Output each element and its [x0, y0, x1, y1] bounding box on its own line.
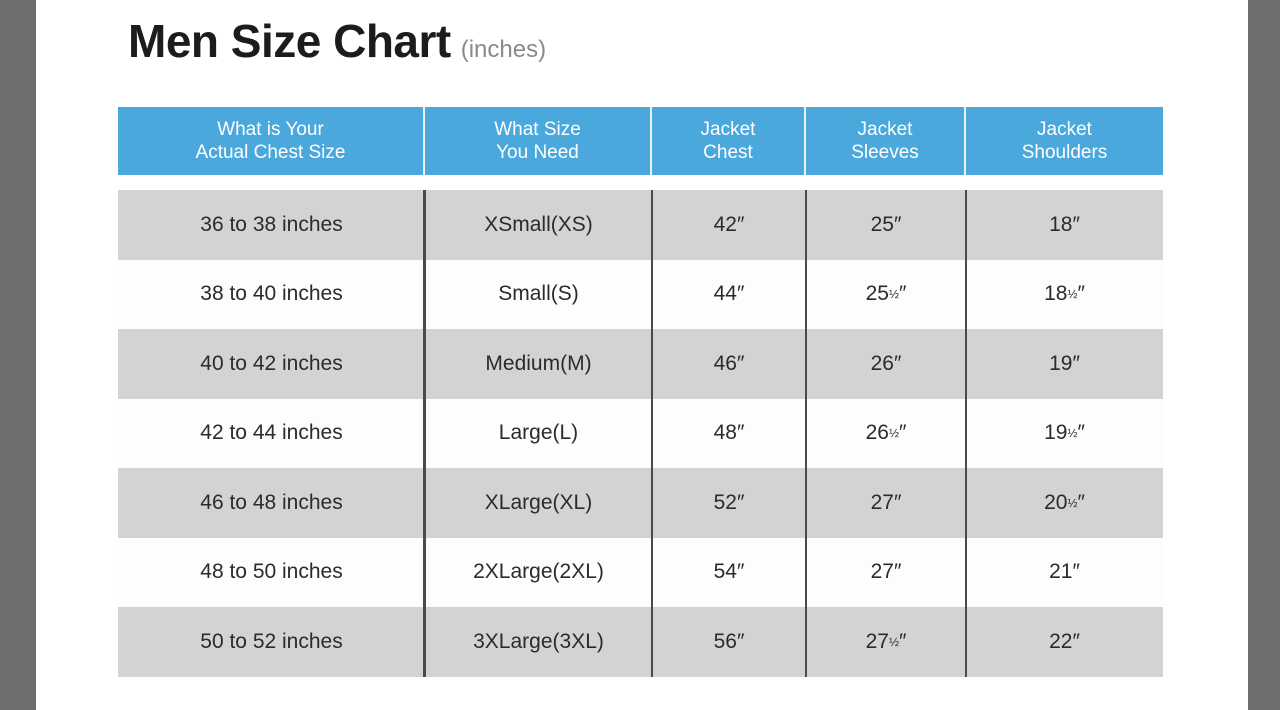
table-header-cell: JacketSleeves — [806, 107, 966, 175]
column-divider-1 — [423, 190, 426, 677]
table-cell-jacket-sleeves: 25″ — [806, 190, 966, 260]
header-line-1: Jacket — [701, 118, 756, 141]
table-cell-actual-chest-size: 38 to 40 inches — [118, 260, 425, 330]
title-text: Men Size Chart — [128, 18, 451, 64]
table-cell-size-you-need: Small(S) — [425, 260, 652, 330]
table-cell-jacket-chest: 42″ — [652, 190, 806, 260]
table-header-cell: What is YourActual Chest Size — [118, 107, 425, 175]
table-cell-jacket-sleeves: 26½″ — [806, 399, 966, 469]
letterbox-left — [0, 0, 36, 710]
table-cell-jacket-sleeves: 27″ — [806, 538, 966, 608]
column-divider-4 — [965, 190, 967, 677]
table-cell-jacket-shoulders: 18″ — [966, 190, 1163, 260]
table-cell-actual-chest-size: 36 to 38 inches — [118, 190, 425, 260]
table-row: 46 to 48 inchesXLarge(XL)52″27″20½″ — [118, 468, 1163, 538]
header-line-2: Actual Chest Size — [196, 141, 346, 164]
table-cell-actual-chest-size: 48 to 50 inches — [118, 538, 425, 608]
table-cell-size-you-need: XLarge(XL) — [425, 468, 652, 538]
table-cell-size-you-need: Medium(M) — [425, 329, 652, 399]
table-row: 40 to 42 inchesMedium(M)46″26″19″ — [118, 329, 1163, 399]
table-body: 36 to 38 inchesXSmall(XS)42″25″18″38 to … — [118, 190, 1163, 677]
table-cell-jacket-shoulders: 22″ — [966, 607, 1163, 677]
table-cell-jacket-chest: 56″ — [652, 607, 806, 677]
table-cell-size-you-need: 3XLarge(3XL) — [425, 607, 652, 677]
column-divider-3 — [805, 190, 807, 677]
letterbox-right — [1248, 0, 1280, 710]
table-cell-size-you-need: 2XLarge(2XL) — [425, 538, 652, 608]
table-cell-jacket-sleeves: 26″ — [806, 329, 966, 399]
table-header-cell: What SizeYou Need — [425, 107, 652, 175]
table-cell-size-you-need: Large(L) — [425, 399, 652, 469]
table-cell-jacket-chest: 46″ — [652, 329, 806, 399]
header-line-2: Chest — [703, 141, 753, 164]
table-cell-jacket-sleeves: 25½″ — [806, 260, 966, 330]
header-line-1: What Size — [494, 118, 581, 141]
table-row: 36 to 38 inchesXSmall(XS)42″25″18″ — [118, 190, 1163, 260]
table-cell-jacket-shoulders: 20½″ — [966, 468, 1163, 538]
title-units: (inches) — [461, 38, 546, 62]
table-cell-jacket-shoulders: 19″ — [966, 329, 1163, 399]
size-chart-page: Men Size Chart (inches) What is YourActu… — [36, 0, 1248, 710]
header-line-1: Jacket — [858, 118, 913, 141]
table-row: 50 to 52 inches3XLarge(3XL)56″27½″22″ — [118, 607, 1163, 677]
header-line-2: You Need — [496, 141, 579, 164]
table-cell-actual-chest-size: 40 to 42 inches — [118, 329, 425, 399]
table-header-cell: JacketChest — [652, 107, 806, 175]
table-row: 42 to 44 inchesLarge(L)48″26½″19½″ — [118, 399, 1163, 469]
header-line-2: Shoulders — [1022, 141, 1108, 164]
size-chart-table: What is YourActual Chest SizeWhat SizeYo… — [118, 107, 1163, 677]
table-cell-jacket-chest: 52″ — [652, 468, 806, 538]
table-cell-actual-chest-size: 42 to 44 inches — [118, 399, 425, 469]
table-row: 38 to 40 inchesSmall(S)44″25½″18½″ — [118, 260, 1163, 330]
table-cell-actual-chest-size: 46 to 48 inches — [118, 468, 425, 538]
table-cell-jacket-chest: 44″ — [652, 260, 806, 330]
table-cell-jacket-chest: 54″ — [652, 538, 806, 608]
table-cell-jacket-shoulders: 21″ — [966, 538, 1163, 608]
table-cell-jacket-shoulders: 19½″ — [966, 399, 1163, 469]
column-divider-2 — [651, 190, 653, 677]
table-cell-jacket-sleeves: 27½″ — [806, 607, 966, 677]
table-cell-jacket-shoulders: 18½″ — [966, 260, 1163, 330]
header-line-1: Jacket — [1037, 118, 1092, 141]
table-cell-size-you-need: XSmall(XS) — [425, 190, 652, 260]
table-header-cell: JacketShoulders — [966, 107, 1163, 175]
page-title: Men Size Chart (inches) — [128, 18, 546, 64]
table-cell-jacket-sleeves: 27″ — [806, 468, 966, 538]
header-gap — [118, 175, 1163, 190]
table-cell-jacket-chest: 48″ — [652, 399, 806, 469]
header-line-2: Sleeves — [851, 141, 919, 164]
table-header-row: What is YourActual Chest SizeWhat SizeYo… — [118, 107, 1163, 175]
table-cell-actual-chest-size: 50 to 52 inches — [118, 607, 425, 677]
header-line-1: What is Your — [217, 118, 324, 141]
table-row: 48 to 50 inches2XLarge(2XL)54″27″21″ — [118, 538, 1163, 608]
